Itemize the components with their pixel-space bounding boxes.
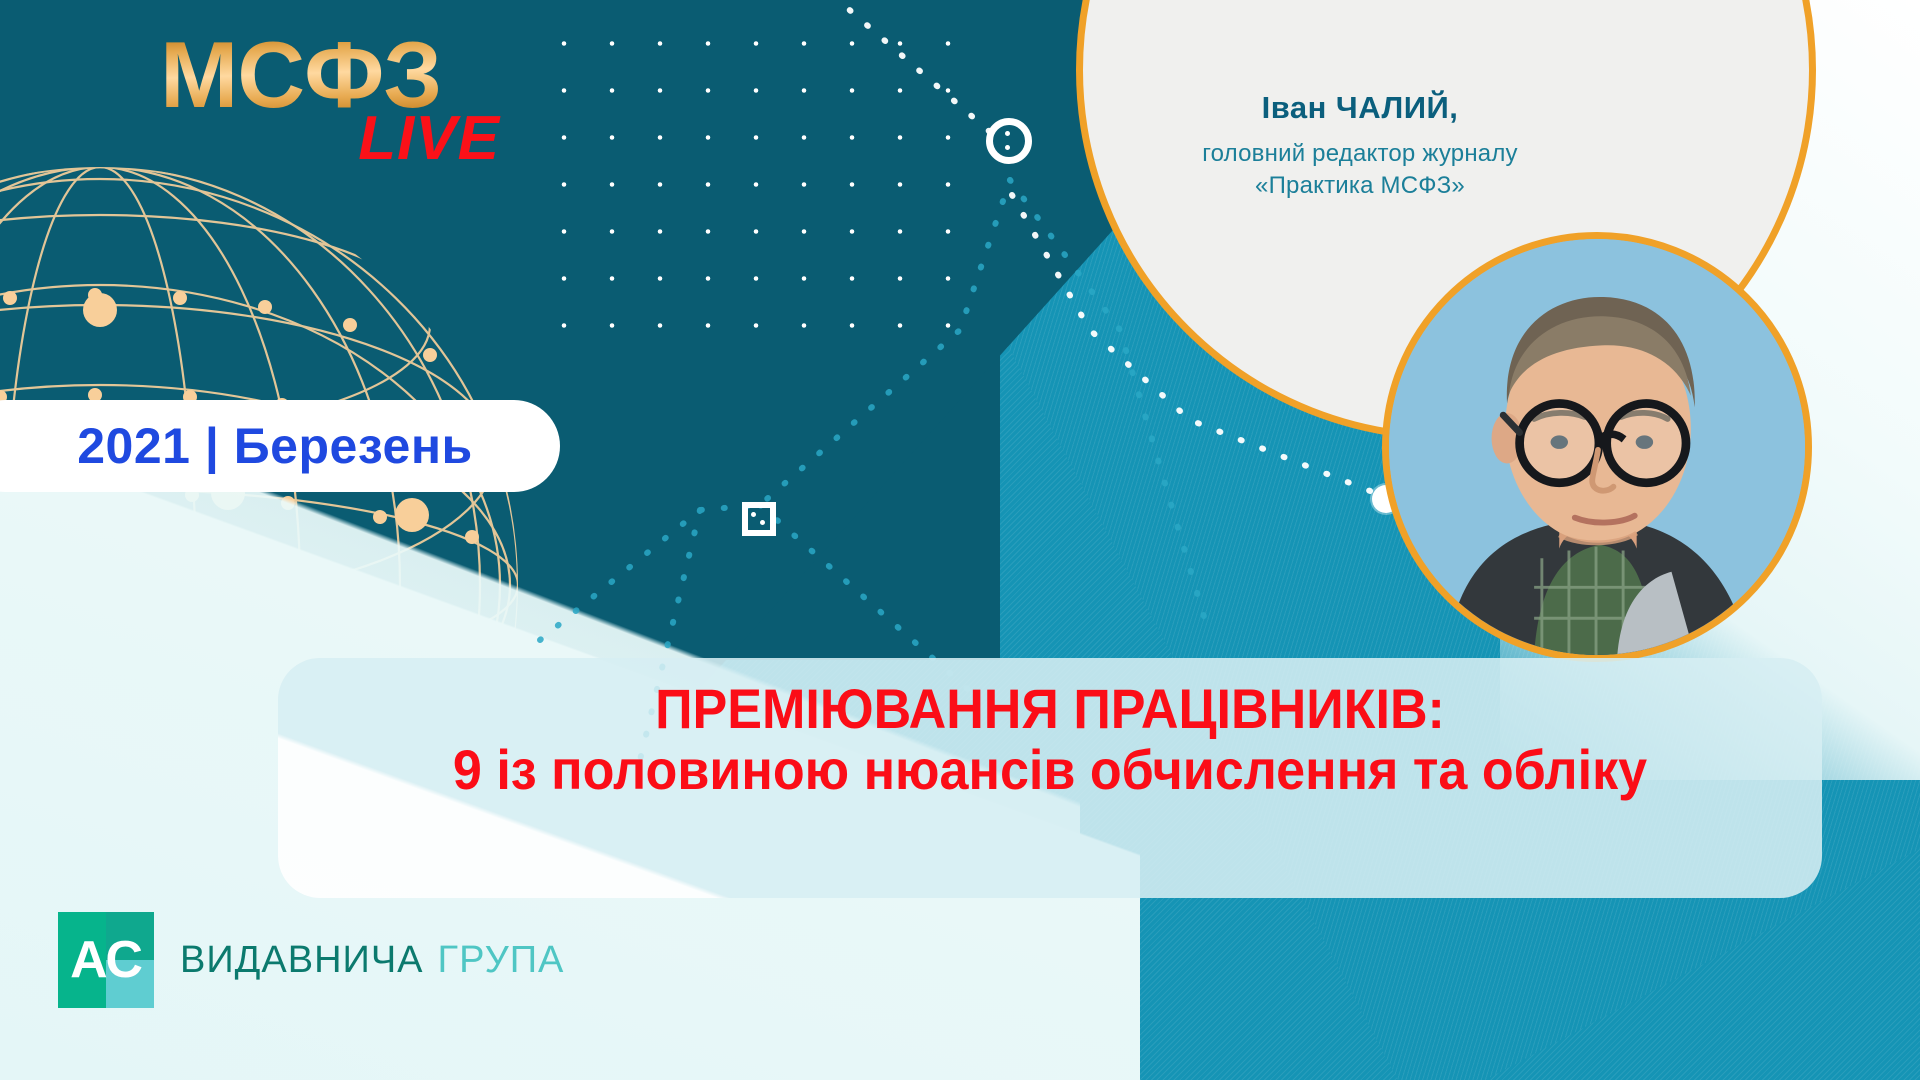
title-line-1: ПРЕМІЮВАННЯ ПРАЦІВНИКІВ: [332, 680, 1768, 739]
page-title: ПРЕМІЮВАННЯ ПРАЦІВНИКІВ: 9 із половиною … [278, 658, 1822, 802]
circle-node-icon [986, 118, 1032, 164]
publisher-word-2: ГРУПА [438, 939, 565, 982]
speaker-name: Іван ЧАЛИЙ, [1090, 90, 1630, 126]
publisher-word-1: ВИДАВНИЧА [180, 939, 424, 982]
publisher-mark-icon: АС [58, 912, 154, 1008]
speaker-role-line-1: головний редактор журналу [1090, 138, 1630, 170]
publisher-mark-label: АС [58, 912, 154, 1008]
publisher-logo: АС ВИДАВНИЧА ГРУПА [58, 912, 564, 1008]
date-badge-label: 2021 | Березень [77, 417, 473, 475]
title-line-2: 9 із половиною нюансів обчислення та обл… [332, 739, 1768, 802]
square-node-icon [742, 502, 776, 536]
promo-banner: Іван ЧАЛИЙ, головний редактор журналу «П… [0, 0, 1920, 1080]
speaker-portrait-photo [1382, 232, 1812, 662]
speaker-info: Іван ЧАЛИЙ, головний редактор журналу «П… [1090, 90, 1630, 201]
brand-logo: МСФЗ LIVE [160, 30, 500, 167]
publisher-name: ВИДАВНИЧА ГРУПА [180, 939, 564, 982]
date-badge: 2021 | Березень [0, 400, 560, 492]
title-panel: ПРЕМІЮВАННЯ ПРАЦІВНИКІВ: 9 із половиною … [278, 658, 1822, 898]
speaker-role-line-2: «Практика МСФЗ» [1090, 170, 1630, 202]
